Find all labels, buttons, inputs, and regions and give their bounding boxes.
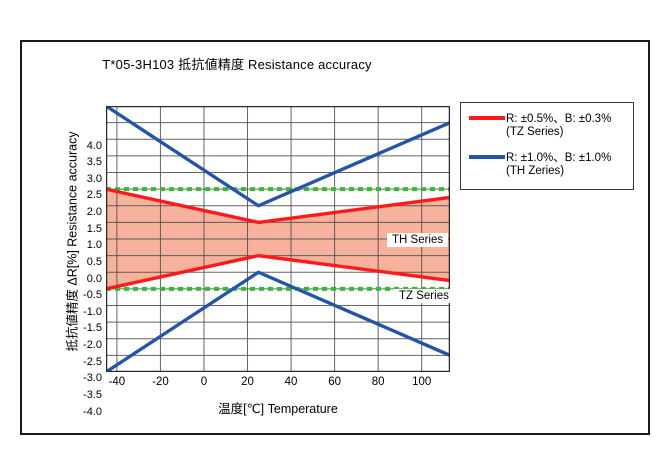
x-tick-label: -20 [152, 376, 169, 388]
annotation-tz-series: TZ Series [394, 289, 454, 303]
y-tick-label: -4.0 [83, 407, 102, 418]
x-tick-label: 40 [285, 376, 298, 388]
legend-tz-line1: R: ±0.5%、B: ±0.3% [506, 110, 611, 126]
legend-swatch-blue-icon [469, 155, 505, 159]
figure-frame: T*05-3H103 抵抗値精度 Resistance accuracy 4.0… [20, 40, 650, 435]
legend-th-line1: R: ±1.0%、B: ±1.0% [506, 149, 611, 165]
plot-area: TH Series TZ Series [106, 106, 450, 372]
x-axis-tick-labels: -40-20020406080100 [106, 376, 450, 394]
y-tick-label: -1.5 [83, 323, 102, 334]
x-axis-title: 温度[℃] Temperature [106, 398, 450, 417]
annotation-th-series: TH Series [387, 233, 448, 247]
legend-th-line2: (TH Zeries) [506, 165, 564, 177]
y-tick-label: 1.0 [87, 240, 102, 251]
y-tick-label: 1.5 [87, 224, 102, 235]
x-tick-label: 60 [328, 376, 341, 388]
legend-swatch-red-icon [469, 116, 505, 120]
y-axis-title: 抵抗値精度 ΔR[%] Resistance accuracy [62, 97, 81, 387]
y-tick-label: 0.5 [87, 257, 102, 268]
legend: R: ±0.5%、B: ±0.3% (TZ Series) R: ±1.0%、B… [460, 102, 634, 190]
y-tick-label: -0.5 [83, 290, 102, 301]
y-tick-label: -1.0 [83, 307, 102, 318]
y-tick-label: 2.5 [87, 190, 102, 201]
x-tick-label: 80 [372, 376, 385, 388]
y-tick-label: -3.5 [83, 390, 102, 401]
y-tick-label: -3.0 [83, 373, 102, 384]
y-tick-label: 4.0 [87, 141, 102, 152]
x-tick-label: 100 [412, 376, 431, 388]
chart-title: T*05-3H103 抵抗値精度 Resistance accuracy [22, 54, 452, 73]
y-tick-label: -2.0 [83, 340, 102, 351]
legend-tz-line2: (TZ Series) [506, 126, 564, 138]
y-tick-label: 2.0 [87, 207, 102, 218]
y-tick-label: 3.5 [87, 157, 102, 168]
x-tick-label: 0 [201, 376, 207, 388]
x-tick-label: 20 [241, 376, 254, 388]
y-tick-label: 0.0 [87, 274, 102, 285]
y-tick-label: -2.5 [83, 357, 102, 368]
y-tick-label: 3.0 [87, 174, 102, 185]
x-tick-label: -40 [109, 376, 126, 388]
